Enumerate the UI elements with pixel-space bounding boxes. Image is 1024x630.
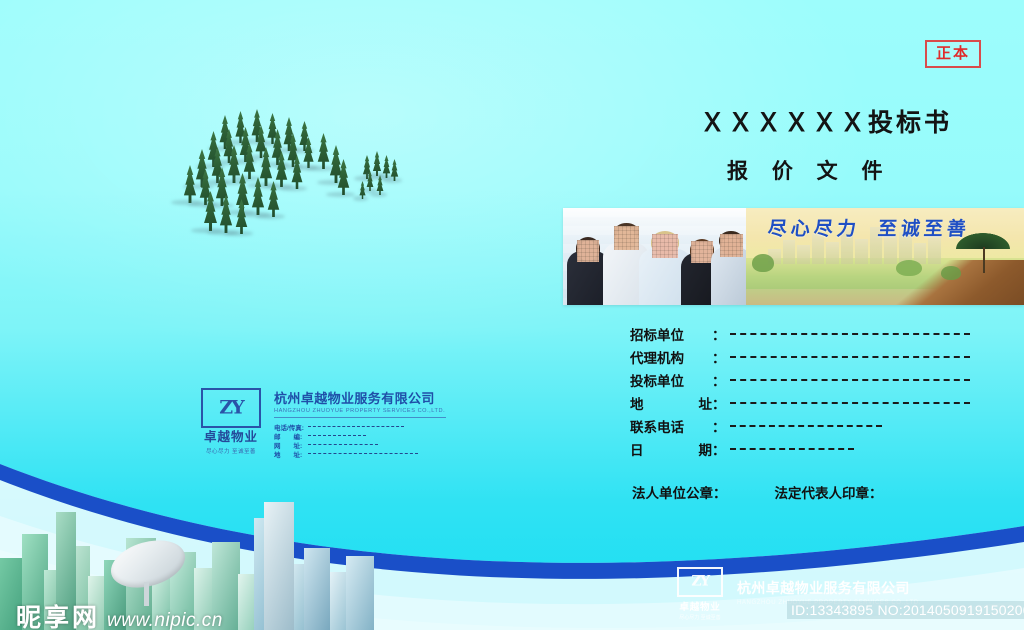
form-row: 日期： xyxy=(630,437,970,460)
form-label: 日期 xyxy=(630,439,712,459)
footer-logo-mark: ZY 卓越物业 尽心尽力 至诚至善 xyxy=(672,567,728,621)
form-label: 招标单位 xyxy=(630,324,712,344)
tree-crown xyxy=(389,159,400,181)
diamond-logo-icon: ZY xyxy=(201,388,261,428)
team-photo xyxy=(563,208,746,305)
form-row: 投标单位： xyxy=(630,368,970,391)
legal-rep-seal-label: 法定代表人印章： xyxy=(775,482,883,502)
contact-row: 地 址: xyxy=(274,449,446,458)
page-subtitle: 报 价 文 件 xyxy=(727,155,892,185)
tree xyxy=(752,254,774,272)
face-pixelation xyxy=(720,234,743,257)
form-colon: ： xyxy=(712,416,726,436)
satellite-dish-icon xyxy=(110,542,186,592)
logo-text-block: 杭州卓越物业服务有限公司 HANGZHOU ZHUOYUE PROPERTY S… xyxy=(274,388,446,458)
tree xyxy=(233,199,250,234)
form-colon: ： xyxy=(712,393,726,413)
brand-name: 卓越物业 xyxy=(196,431,266,445)
watermark-site-cn: 昵享网 xyxy=(16,598,100,630)
form-colon: ： xyxy=(712,347,726,367)
tree-crown xyxy=(335,159,352,195)
footer-company-name-cn: 杭州卓越物业服务有限公司 xyxy=(737,578,921,598)
tree-crown xyxy=(289,155,305,189)
form-label: 地址 xyxy=(630,393,712,413)
tree xyxy=(389,159,400,181)
form-colon: ： xyxy=(712,370,726,390)
landscape-photo: 尽心尽力至诚至善 xyxy=(746,208,1024,305)
tree xyxy=(265,181,282,217)
form-blank-line[interactable] xyxy=(730,356,971,359)
bid-info-form: 招标单位：代理机构：投标单位：地址：联系电话：日期： xyxy=(630,322,970,460)
form-row: 地址： xyxy=(630,391,970,414)
form-label: 联系电话 xyxy=(630,416,712,436)
watermark-id-text: ID:13343895 NO:20140509191502005316 xyxy=(787,601,1024,619)
watermark-site-url: www.nipic.cn xyxy=(107,610,223,630)
form-blank-line[interactable] xyxy=(730,333,971,336)
building xyxy=(346,556,374,630)
face-pixelation xyxy=(614,226,639,250)
company-seal-label: 法人单位公章： xyxy=(632,482,727,502)
slogan-left: 尽心尽力 xyxy=(767,218,861,240)
tree-crown xyxy=(375,175,385,195)
form-row: 联系电话： xyxy=(630,414,970,437)
document-cover-page: 正本 ＸＸＸＸＸＸ投标书 报 价 文 件 xyxy=(0,0,1024,630)
form-colon: ： xyxy=(712,324,726,344)
building-tower xyxy=(264,502,294,630)
tree xyxy=(896,260,922,276)
logo-mark: ZY 卓越物业 尽心尽力 至诚至善 xyxy=(196,388,266,456)
footer-brand-slogan: 尽心尽力 至诚至善 xyxy=(672,614,728,621)
tree xyxy=(358,181,367,199)
face-pixelation xyxy=(577,240,599,262)
form-label: 投标单位 xyxy=(630,370,712,390)
tree xyxy=(335,159,352,195)
form-row: 招标单位： xyxy=(630,322,970,345)
forest-illustration xyxy=(175,103,405,228)
tree xyxy=(289,155,305,189)
brand-slogan: 尽心尽力 至诚至善 xyxy=(199,446,263,454)
banner-slogan: 尽心尽力至诚至善 xyxy=(767,214,990,241)
form-colon: ： xyxy=(712,439,726,459)
cover-banner: 尽心尽力至诚至善 xyxy=(563,208,1024,305)
form-blank-line[interactable] xyxy=(730,425,882,428)
tree xyxy=(941,266,961,280)
face-pixelation xyxy=(691,241,713,263)
slogan-right: 至诚至善 xyxy=(877,218,971,240)
original-copy-badge: 正本 xyxy=(925,40,981,68)
contact-label: 地 址: xyxy=(274,449,308,459)
company-logo-block: ZY 卓越物业 尽心尽力 至诚至善 杭州卓越物业服务有限公司 HANGZHOU … xyxy=(196,388,446,460)
tree-crown xyxy=(265,181,282,217)
divider xyxy=(274,417,446,418)
monogram-text: ZY xyxy=(219,397,242,419)
tree-crown xyxy=(233,199,250,234)
site-watermark: 昵享网 www.nipic.cn xyxy=(16,598,223,630)
building xyxy=(304,548,330,630)
form-row: 代理机构： xyxy=(630,345,970,368)
face-pixelation xyxy=(652,234,678,258)
tree-crown xyxy=(358,181,367,199)
form-blank-line[interactable] xyxy=(730,448,854,451)
form-label: 代理机构 xyxy=(630,347,712,367)
seal-row: 法人单位公章： 法定代表人印章： xyxy=(632,482,883,502)
contact-blank-line[interactable] xyxy=(308,426,404,428)
tree xyxy=(375,175,385,195)
form-blank-line[interactable] xyxy=(730,402,971,405)
contact-list: 电话/传真:邮 编:网 址:地 址: xyxy=(274,422,446,458)
page-title: ＸＸＸＸＸＸ投标书 xyxy=(700,103,952,139)
footer-brand-name: 卓越物业 xyxy=(672,599,728,613)
company-name-cn: 杭州卓越物业服务有限公司 xyxy=(274,388,446,407)
contact-blank-line[interactable] xyxy=(308,444,378,446)
monogram-text: ZY xyxy=(691,574,708,590)
contact-blank-line[interactable] xyxy=(308,435,366,437)
company-name-en: HANGZHOU ZHUOYUE PROPERTY SERVICES CO.,L… xyxy=(274,408,446,414)
person-5 xyxy=(711,231,746,305)
form-blank-line[interactable] xyxy=(730,379,971,382)
contact-blank-line[interactable] xyxy=(308,453,418,455)
diamond-logo-icon: ZY xyxy=(677,567,723,597)
